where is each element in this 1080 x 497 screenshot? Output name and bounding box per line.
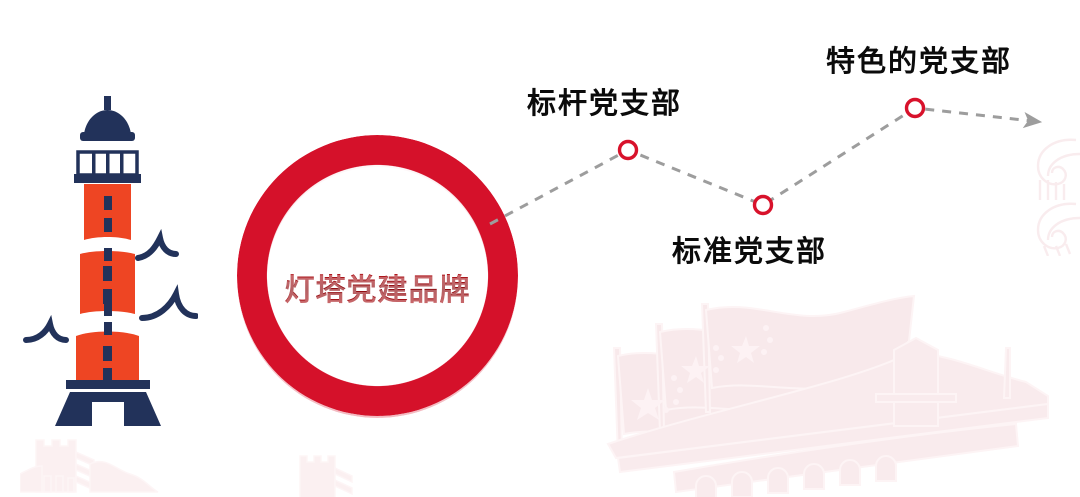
stage-marker-1[interactable] bbox=[755, 197, 772, 214]
stage-marker-2[interactable] bbox=[907, 100, 924, 117]
slide-canvas: 灯塔党建品牌 bbox=[0, 0, 1080, 497]
stage-label-biaozhun: 标准党支部 bbox=[672, 228, 827, 270]
stage-label-biaogan: 标杆党支部 bbox=[527, 80, 682, 122]
stage-marker-0[interactable] bbox=[620, 142, 637, 159]
stage-label-tese: 特色的党支部 bbox=[826, 38, 1012, 80]
